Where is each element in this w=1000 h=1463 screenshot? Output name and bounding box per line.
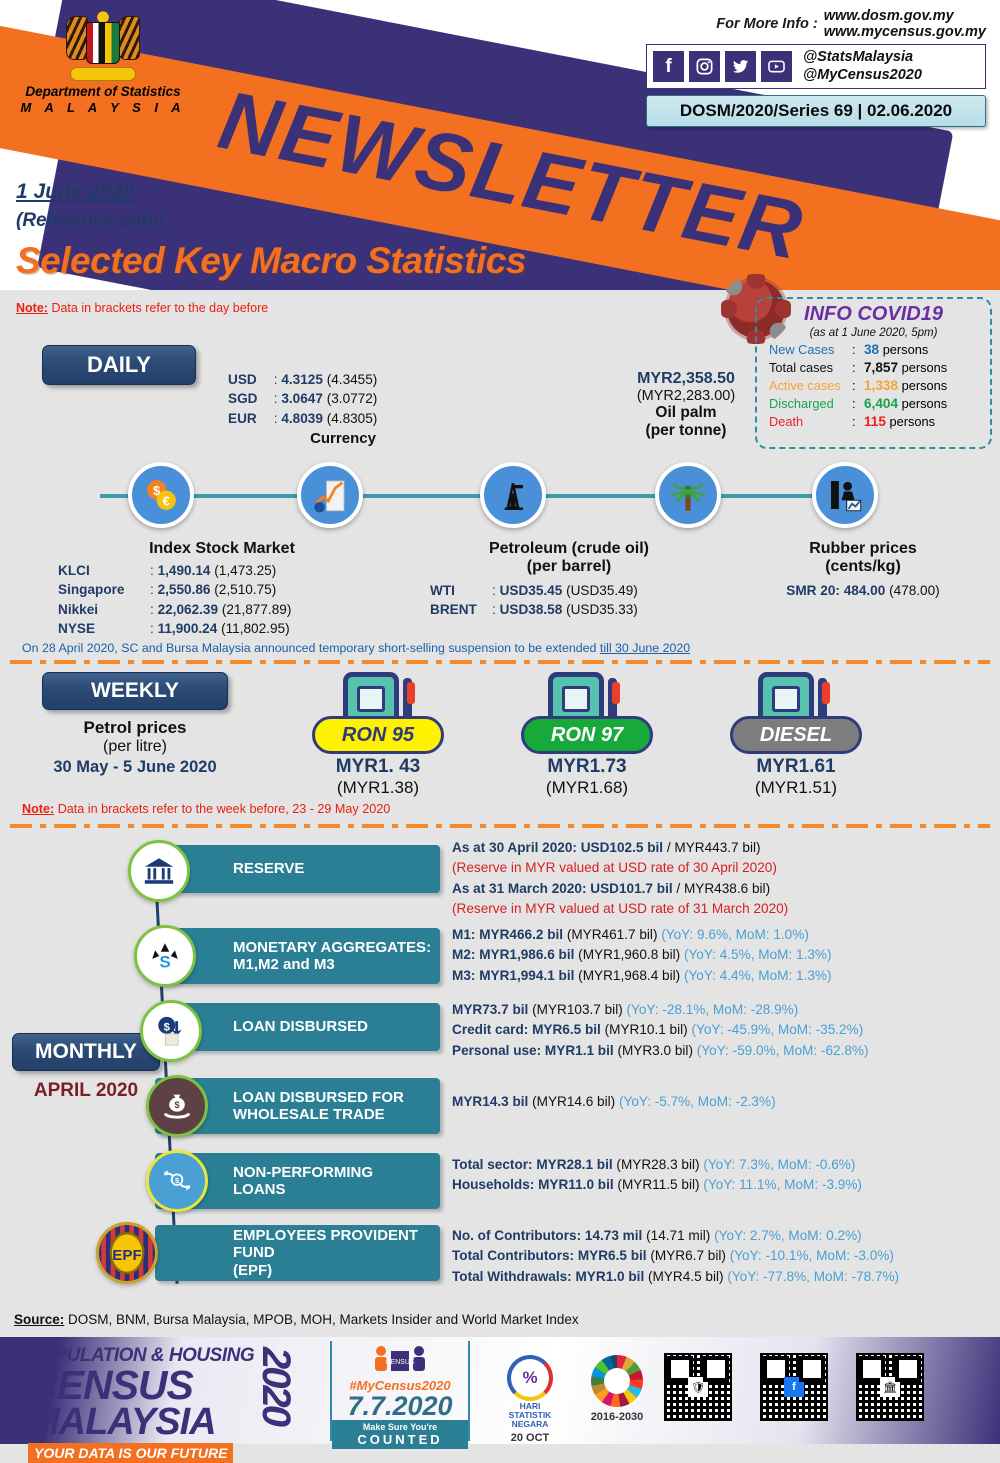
census-logo: POPULATION & HOUSING CENSUS MALAYSIA 202… bbox=[28, 1345, 300, 1437]
oil-palm-tree-icon bbox=[655, 462, 721, 528]
monthly-row-epf: EMPLOYEES PROVIDENT FUND (EPF) bbox=[155, 1225, 440, 1281]
census-date: 7.7.2020 bbox=[332, 1393, 468, 1420]
sdg-wheel-icon bbox=[591, 1355, 643, 1407]
petroleum-row-brent: BRENT: USD38.58 (USD35.33) bbox=[430, 600, 714, 619]
daily-note-text: Data in brackets refer to the day before bbox=[51, 301, 268, 315]
org-name-line2: M A L A Y S I A bbox=[8, 100, 198, 115]
hand-coin-icon: $ bbox=[146, 1150, 208, 1212]
oil-palm-prev: (MYR2,283.00) bbox=[596, 388, 776, 404]
sdg-logo: 2016-2030 bbox=[575, 1355, 659, 1423]
weekly-title-block: Petrol prices (per litre) 30 May - 5 Jun… bbox=[30, 718, 240, 777]
stock-chart-icon bbox=[297, 462, 363, 528]
census-counted: Make Sure You're COUNTED bbox=[332, 1420, 468, 1449]
bank-building-icon bbox=[128, 840, 190, 902]
petroleum-block: Petroleum (crude oil) (per barrel) WTI: … bbox=[424, 540, 714, 620]
svg-text:€: € bbox=[163, 494, 171, 509]
covid-row-total-cases: Total cases: 7,857 persons bbox=[757, 360, 990, 375]
npl-values: Total sector: MYR28.1 bil (MYR28.3 bil) … bbox=[452, 1155, 992, 1196]
short-selling-footnote: On 28 April 2020, SC and Bursa Malaysia … bbox=[22, 641, 690, 655]
oil-palm-block: MYR2,358.50 (MYR2,283.00) Oil palm (per … bbox=[596, 370, 776, 440]
page-title: Selected Key Macro Statistics bbox=[16, 240, 526, 282]
svg-text:$: $ bbox=[175, 1176, 179, 1185]
series-badge: DOSM/2020/Series 69 | 02.06.2020 bbox=[646, 95, 986, 127]
more-info-label: For More Info : bbox=[716, 16, 818, 32]
loan-dollar-icon: $ bbox=[140, 1000, 202, 1062]
hari-statistik-logo: % HARI STATISTIK NEGARA 20 OCT bbox=[492, 1355, 568, 1444]
monetary-values: M1: MYR466.2 bil (MYR461.7 bil) (YoY: 9.… bbox=[452, 925, 992, 986]
currency-title: Currency bbox=[228, 430, 458, 447]
rubber-title: Rubber prices bbox=[738, 540, 988, 558]
epf-logo-icon: EPF bbox=[96, 1222, 158, 1284]
facebook-icon[interactable]: f bbox=[653, 51, 684, 82]
oil-rig-icon bbox=[480, 462, 546, 528]
fuel-price-ron95: MYR1. 43 (MYR1.38) bbox=[300, 756, 456, 798]
newsletter-page: NEWSLETTER Department of Statistics M A … bbox=[0, 0, 1000, 1444]
separator-weekly-monthly bbox=[10, 824, 990, 828]
youtube-icon[interactable] bbox=[761, 51, 792, 82]
covid-row-active-cases: Active cases: 1,338 persons bbox=[757, 378, 990, 393]
sdg-range: 2016-2030 bbox=[575, 1411, 659, 1423]
oil-palm-unit: (per tonne) bbox=[596, 422, 776, 440]
monthly-row-reserve: RESERVE bbox=[155, 845, 440, 893]
header-banner: NEWSLETTER Department of Statistics M A … bbox=[0, 0, 1000, 290]
fuel-tag-diesel: DIESEL bbox=[730, 716, 862, 754]
petrol-unit: (per litre) bbox=[30, 738, 240, 756]
petrol-title: Petrol prices bbox=[30, 718, 240, 738]
website-mycensus-link[interactable]: www.mycensus.gov.my bbox=[824, 24, 986, 40]
daily-badge: DAILY bbox=[42, 345, 196, 385]
stock-title: Index Stock Market bbox=[52, 540, 392, 558]
monthly-period: APRIL 2020 bbox=[12, 1080, 160, 1102]
census-tagline: YOUR DATA IS OUR FUTURE bbox=[28, 1443, 233, 1463]
currency-exchange-icon: $€ bbox=[128, 462, 194, 528]
footer-banner: POPULATION & HOUSING CENSUS MALAYSIA 202… bbox=[0, 1337, 1000, 1444]
loan-disbursed-values: MYR73.7 bil (MYR103.7 bil) (YoY: -28.1%,… bbox=[452, 1000, 992, 1061]
reference-date-sub: (Reference date) bbox=[16, 210, 165, 232]
malaysia-crest-icon bbox=[60, 4, 146, 80]
instagram-icon[interactable] bbox=[689, 51, 720, 82]
daily-note-label: Note: bbox=[16, 301, 48, 315]
hsn-date: 20 OCT bbox=[492, 1432, 568, 1444]
covid-row-new-cases: New Cases: 38 persons bbox=[757, 342, 990, 357]
svg-text:CENSUS: CENSUS bbox=[385, 1359, 415, 1366]
twitter-icon[interactable] bbox=[725, 51, 756, 82]
social-media-box: f @StatsMalaysia @MyCensus2020 bbox=[646, 44, 986, 89]
epf-values: No. of Contributors: 14.73 mil (14.71 mi… bbox=[452, 1226, 997, 1287]
source-text: DOSM, BNM, Bursa Malaysia, MPOB, MOH, Ma… bbox=[64, 1312, 578, 1327]
covid-row-discharged: Discharged: 6,404 persons bbox=[757, 396, 990, 411]
source-label: Source: bbox=[14, 1312, 64, 1327]
covid-subtitle: (as at 1 June 2020, 5pm) bbox=[757, 327, 990, 339]
monthly-badge: MONTHLY bbox=[12, 1033, 160, 1071]
money-bag-hand-icon: $ bbox=[146, 1075, 208, 1137]
separator-daily-weekly bbox=[10, 660, 990, 664]
census-year: 2020 bbox=[253, 1347, 298, 1424]
fuel-tag-ron95: RON 95 bbox=[312, 716, 444, 754]
rubber-unit: (cents/kg) bbox=[738, 558, 988, 576]
svg-text:$: $ bbox=[164, 1021, 171, 1033]
loan-wholesale-values: MYR14.3 bil (MYR14.6 bil) (YoY: -5.7%, M… bbox=[452, 1092, 992, 1112]
currency-row-usd: USD : 4.3125 (4.3455) bbox=[228, 370, 458, 389]
covid-row-death: Death: 115 persons bbox=[757, 414, 990, 429]
svg-text:EPF: EPF bbox=[112, 1247, 141, 1264]
currency-row-eur: EUR : 4.8039 (4.8305) bbox=[228, 409, 458, 428]
org-name-line1: Department of Statistics bbox=[8, 84, 198, 99]
stock-row-nikkei: Nikkei: 22,062.39 (21,877.89) bbox=[58, 600, 392, 619]
stock-row-singapore: Singapore: 2,550.86 (2,510.75) bbox=[58, 580, 392, 599]
reference-date: 1 June 2020 bbox=[16, 180, 135, 204]
weekly-note: Note: Data in brackets refer to the week… bbox=[22, 802, 390, 816]
money-supply-icon: S bbox=[134, 925, 196, 987]
short-selling-link[interactable]: till 30 June 2020 bbox=[600, 641, 690, 655]
svg-text:S: S bbox=[159, 952, 170, 971]
fuel-price-ron97: MYR1.73 (MYR1.68) bbox=[509, 756, 665, 798]
census-people-icon: CENSUS bbox=[365, 1343, 435, 1373]
hsn-line3: NEGARA bbox=[512, 1419, 549, 1429]
reserve-values: As at 30 April 2020: USD102.5 bil / MYR4… bbox=[452, 838, 992, 920]
fuel-tag-ron97: RON 97 bbox=[521, 716, 653, 754]
petroleum-title: Petroleum (crude oil) bbox=[424, 540, 714, 558]
stock-row-nyse: NYSE: 11,900.24 (11,802.95) bbox=[58, 619, 392, 638]
weekly-badge: WEEKLY bbox=[42, 672, 228, 710]
website-dosm-link[interactable]: www.dosm.gov.my bbox=[824, 8, 954, 24]
rubber-tapping-icon bbox=[812, 462, 878, 528]
daily-note: Note: Data in brackets refer to the day … bbox=[16, 301, 268, 315]
covid-title: INFO COVID19 bbox=[757, 303, 990, 326]
handle-mycensus2020: @MyCensus2020 bbox=[803, 67, 922, 83]
handle-statsmalaysia: @StatsMalaysia bbox=[803, 49, 913, 65]
currency-block: USD : 4.3125 (4.3455) SGD : 3.0647 (3.07… bbox=[228, 370, 458, 447]
petroleum-row-wti: WTI: USD35.45 (USD35.49) bbox=[430, 581, 714, 600]
contact-block: For More Info : www.dosm.gov.my www.myce… bbox=[646, 8, 986, 127]
svg-text:$: $ bbox=[174, 1100, 179, 1110]
mycensus-block: CENSUS #MyCensus2020 7.7.2020 Make Sure … bbox=[330, 1341, 470, 1441]
oil-palm-value: MYR2,358.50 bbox=[596, 370, 776, 388]
qr-dosm[interactable]: 🛡 bbox=[664, 1353, 732, 1421]
monthly-row-monetary-aggregates: MONETARY AGGREGATES: M1,M2 and M3 bbox=[155, 928, 440, 984]
qr-mycensus[interactable]: 🏛 bbox=[856, 1353, 924, 1421]
percent-ring-icon: % bbox=[507, 1355, 553, 1401]
oil-palm-label: Oil palm bbox=[596, 404, 776, 422]
rubber-block: Rubber prices (cents/kg) SMR 20: 484.00 … bbox=[738, 540, 988, 600]
stock-market-block: Index Stock Market KLCI: 1,490.14 (1,473… bbox=[52, 540, 392, 638]
source-line: Source: DOSM, BNM, Bursa Malaysia, MPOB,… bbox=[14, 1312, 579, 1327]
petrol-period: 30 May - 5 June 2020 bbox=[30, 758, 240, 777]
currency-row-sgd: SGD : 3.0647 (3.0772) bbox=[228, 389, 458, 408]
qr-facebook[interactable]: f bbox=[760, 1353, 828, 1421]
rubber-row-smr20: SMR 20: 484.00 (478.00) bbox=[738, 581, 988, 600]
petroleum-unit: (per barrel) bbox=[424, 558, 714, 576]
stock-row-klci: KLCI: 1,490.14 (1,473.25) bbox=[58, 561, 392, 580]
fuel-price-diesel: MYR1.61 (MYR1.51) bbox=[718, 756, 874, 798]
dosm-logo: Department of Statistics M A L A Y S I A bbox=[8, 2, 198, 114]
covid-info-box: INFO COVID19 (as at 1 June 2020, 5pm) Ne… bbox=[755, 297, 992, 449]
